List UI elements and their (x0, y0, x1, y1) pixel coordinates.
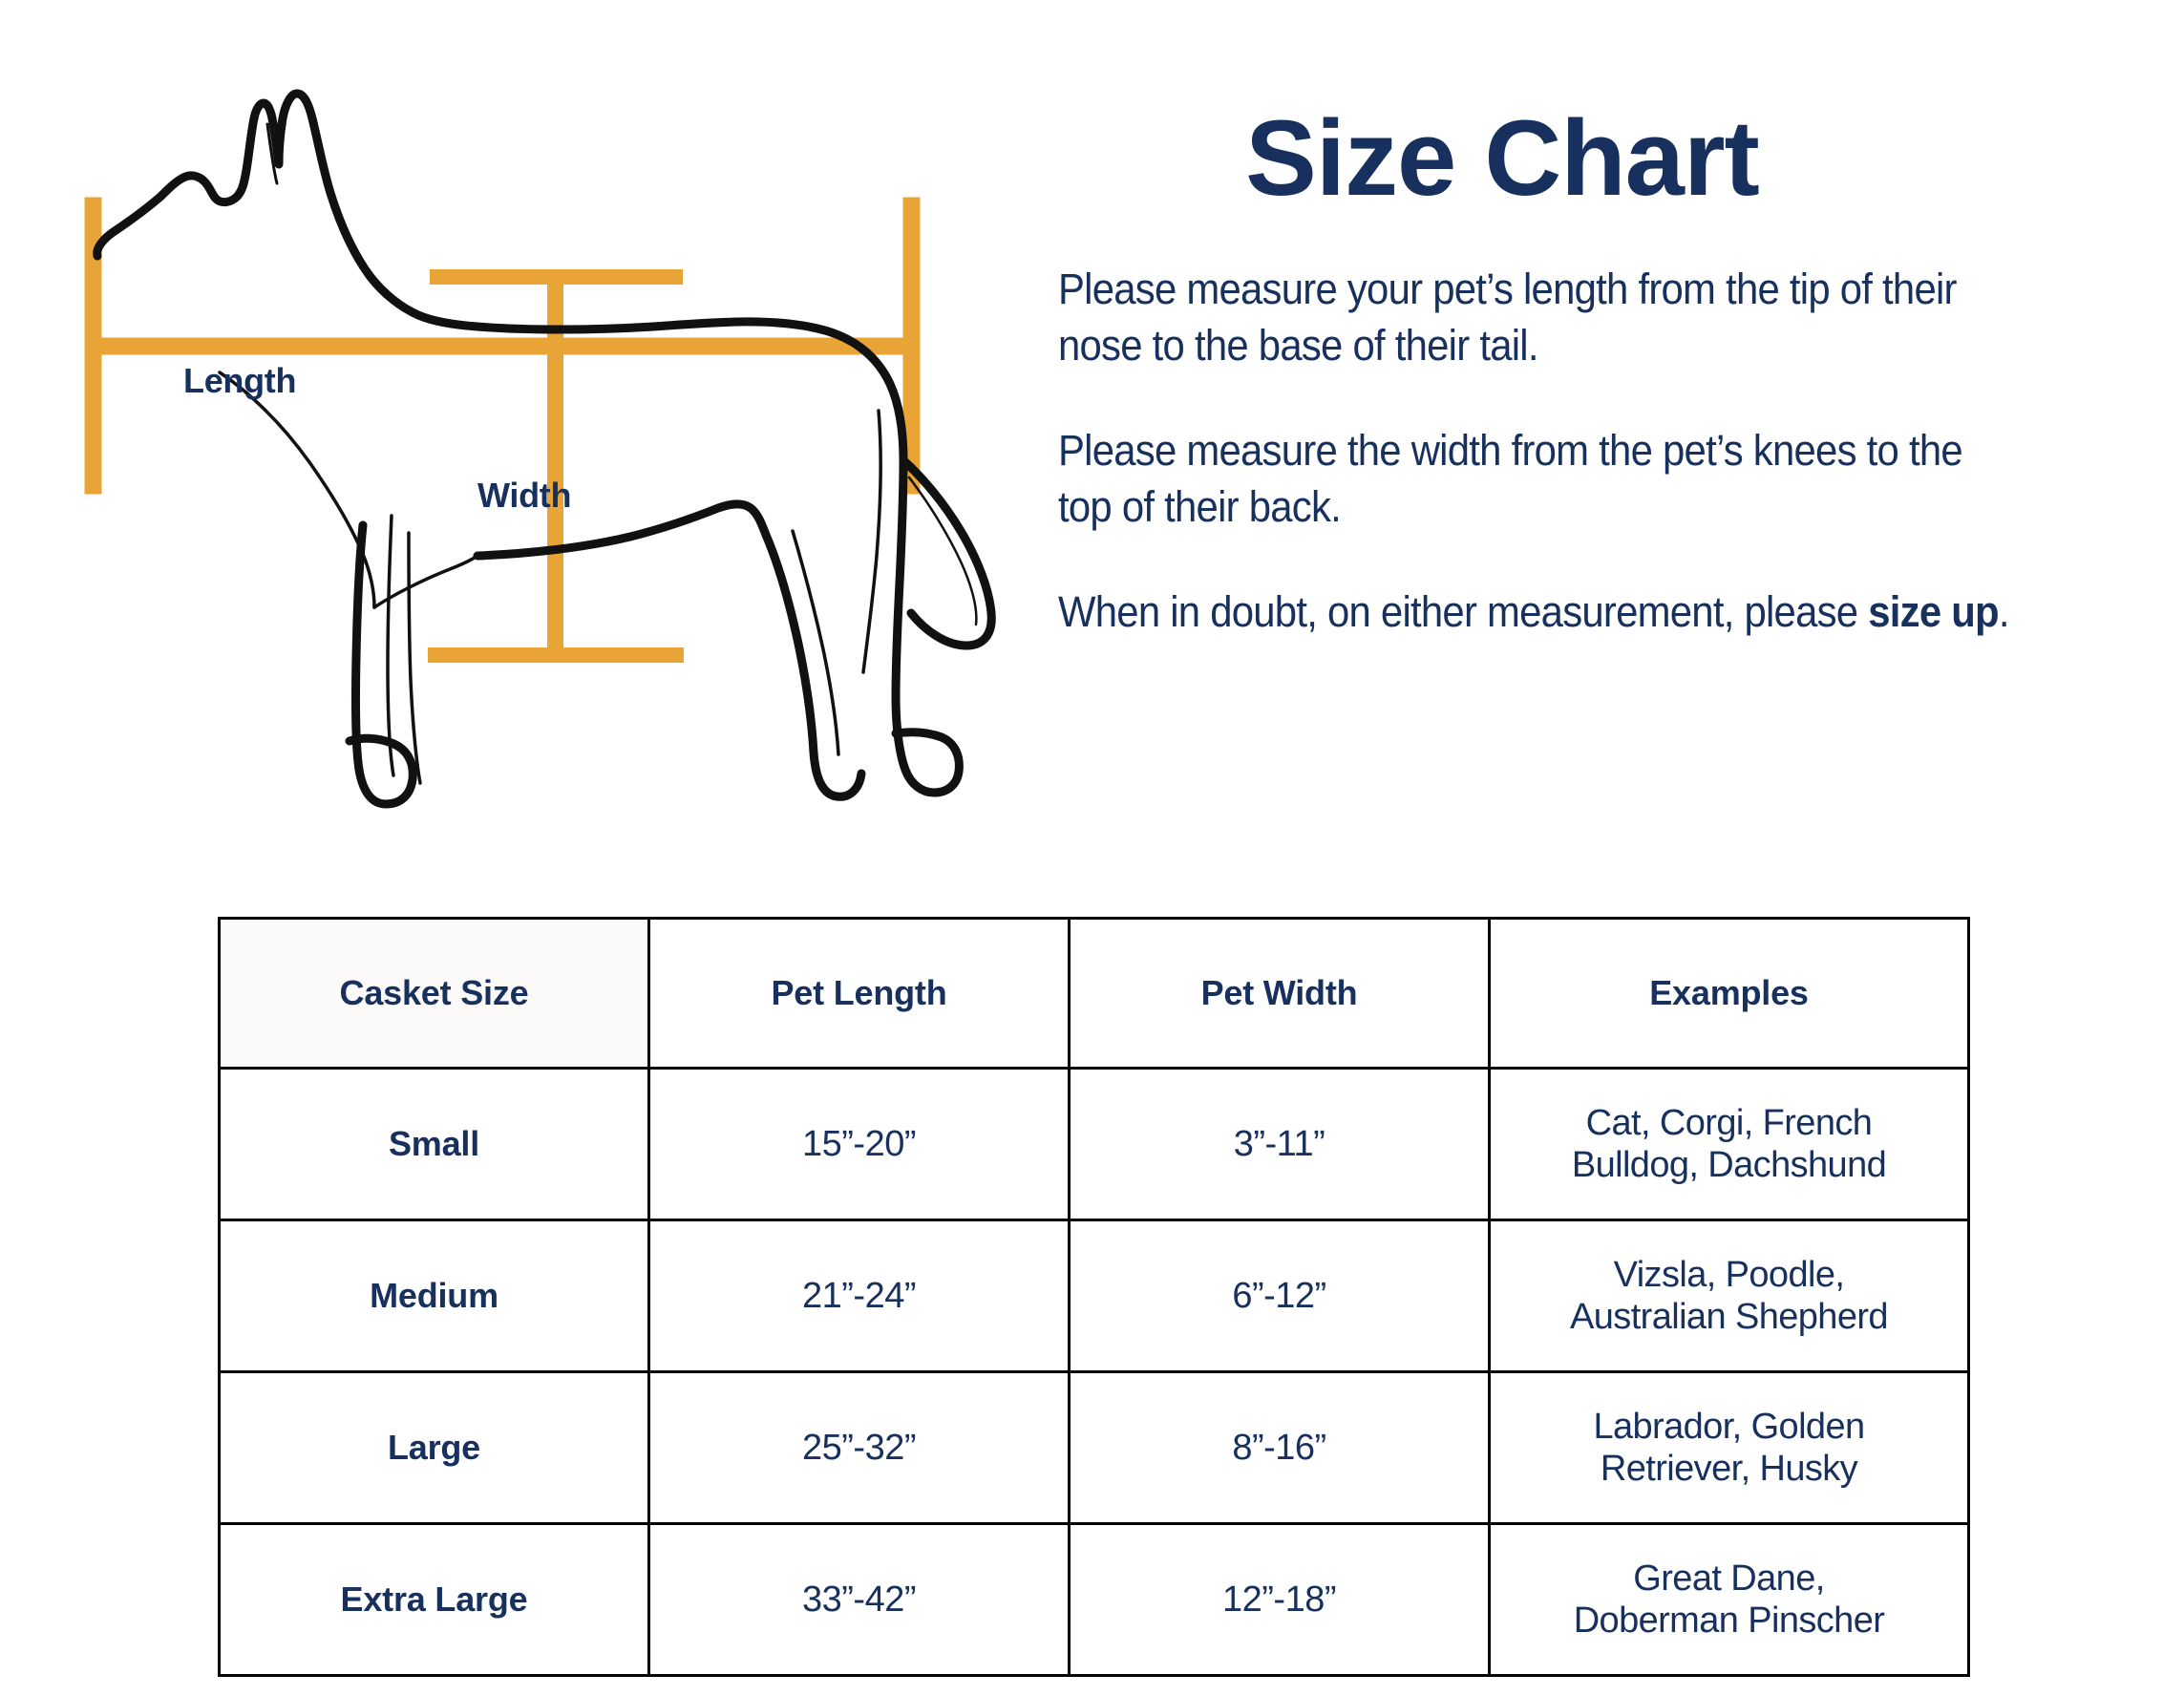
size-table: Casket Size Pet Length Pet Width Example… (218, 917, 1970, 1677)
cell-pet-length: 21”-24” (649, 1220, 1070, 1372)
info-panel: Size Chart Please measure your pet’s len… (1058, 105, 2099, 641)
cell-pet-length: 25”-32” (649, 1372, 1070, 1524)
cell-casket-size: Small (220, 1069, 649, 1220)
column-header-pet-width: Pet Width (1070, 919, 1490, 1069)
cell-casket-size: Extra Large (220, 1524, 649, 1676)
size-up-prefix: When in doubt, on either measurement, pl… (1058, 587, 1868, 636)
top-section: Length Width Size Chart Please measure y… (0, 0, 2184, 888)
column-header-examples: Examples (1490, 919, 1969, 1069)
cell-examples: Great Dane, Doberman Pinscher (1490, 1524, 1969, 1676)
size-table-container: Casket Size Pet Length Pet Width Example… (218, 917, 1967, 1677)
width-measure-label: Width (477, 476, 571, 516)
page-title: Size Chart (1058, 105, 2099, 212)
cell-pet-length: 15”-20” (649, 1069, 1070, 1220)
length-instruction: Please measure your pet’s length from th… (1058, 262, 2026, 373)
column-header-pet-length: Pet Length (649, 919, 1070, 1069)
table-row: Small 15”-20” 3”-11” Cat, Corgi, French … (220, 1069, 1969, 1220)
cell-casket-size: Medium (220, 1220, 649, 1372)
size-up-suffix: . (1999, 587, 2009, 636)
table-body: Small 15”-20” 3”-11” Cat, Corgi, French … (220, 1069, 1969, 1676)
cell-examples: Labrador, Golden Retriever, Husky (1490, 1372, 1969, 1524)
cell-pet-width: 12”-18” (1070, 1524, 1490, 1676)
cell-pet-width: 8”-16” (1070, 1372, 1490, 1524)
dog-detail-lines (220, 124, 976, 783)
cell-examples: Cat, Corgi, French Bulldog, Dachshund (1490, 1069, 1969, 1220)
table-row: Large 25”-32” 8”-16” Labrador, Golden Re… (220, 1372, 1969, 1524)
size-up-emphasis: size up (1868, 587, 1999, 636)
cell-pet-width: 6”-12” (1070, 1220, 1490, 1372)
table-row: Extra Large 33”-42” 12”-18” Great Dane, … (220, 1524, 1969, 1676)
column-header-casket-size: Casket Size (220, 919, 649, 1069)
cell-examples: Vizsla, Poodle, Australian Shepherd (1490, 1220, 1969, 1372)
cell-pet-width: 3”-11” (1070, 1069, 1490, 1220)
table-header-row: Casket Size Pet Length Pet Width Example… (220, 919, 1969, 1069)
cell-casket-size: Large (220, 1372, 649, 1524)
width-instruction: Please measure the width from the pet’s … (1058, 423, 2026, 535)
table-row: Medium 21”-24” 6”-12” Vizsla, Poodle, Au… (220, 1220, 1969, 1372)
dog-body-outline (97, 94, 992, 804)
table-header: Casket Size Pet Length Pet Width Example… (220, 919, 1969, 1069)
size-up-instruction: When in doubt, on either measurement, pl… (1058, 584, 2026, 641)
length-measure-guide (85, 198, 920, 494)
cell-pet-length: 33”-42” (649, 1524, 1070, 1676)
length-measure-label: Length (183, 361, 296, 401)
pet-measurement-diagram: Length Width (76, 86, 1041, 850)
dog-outline-svg (76, 86, 1041, 850)
